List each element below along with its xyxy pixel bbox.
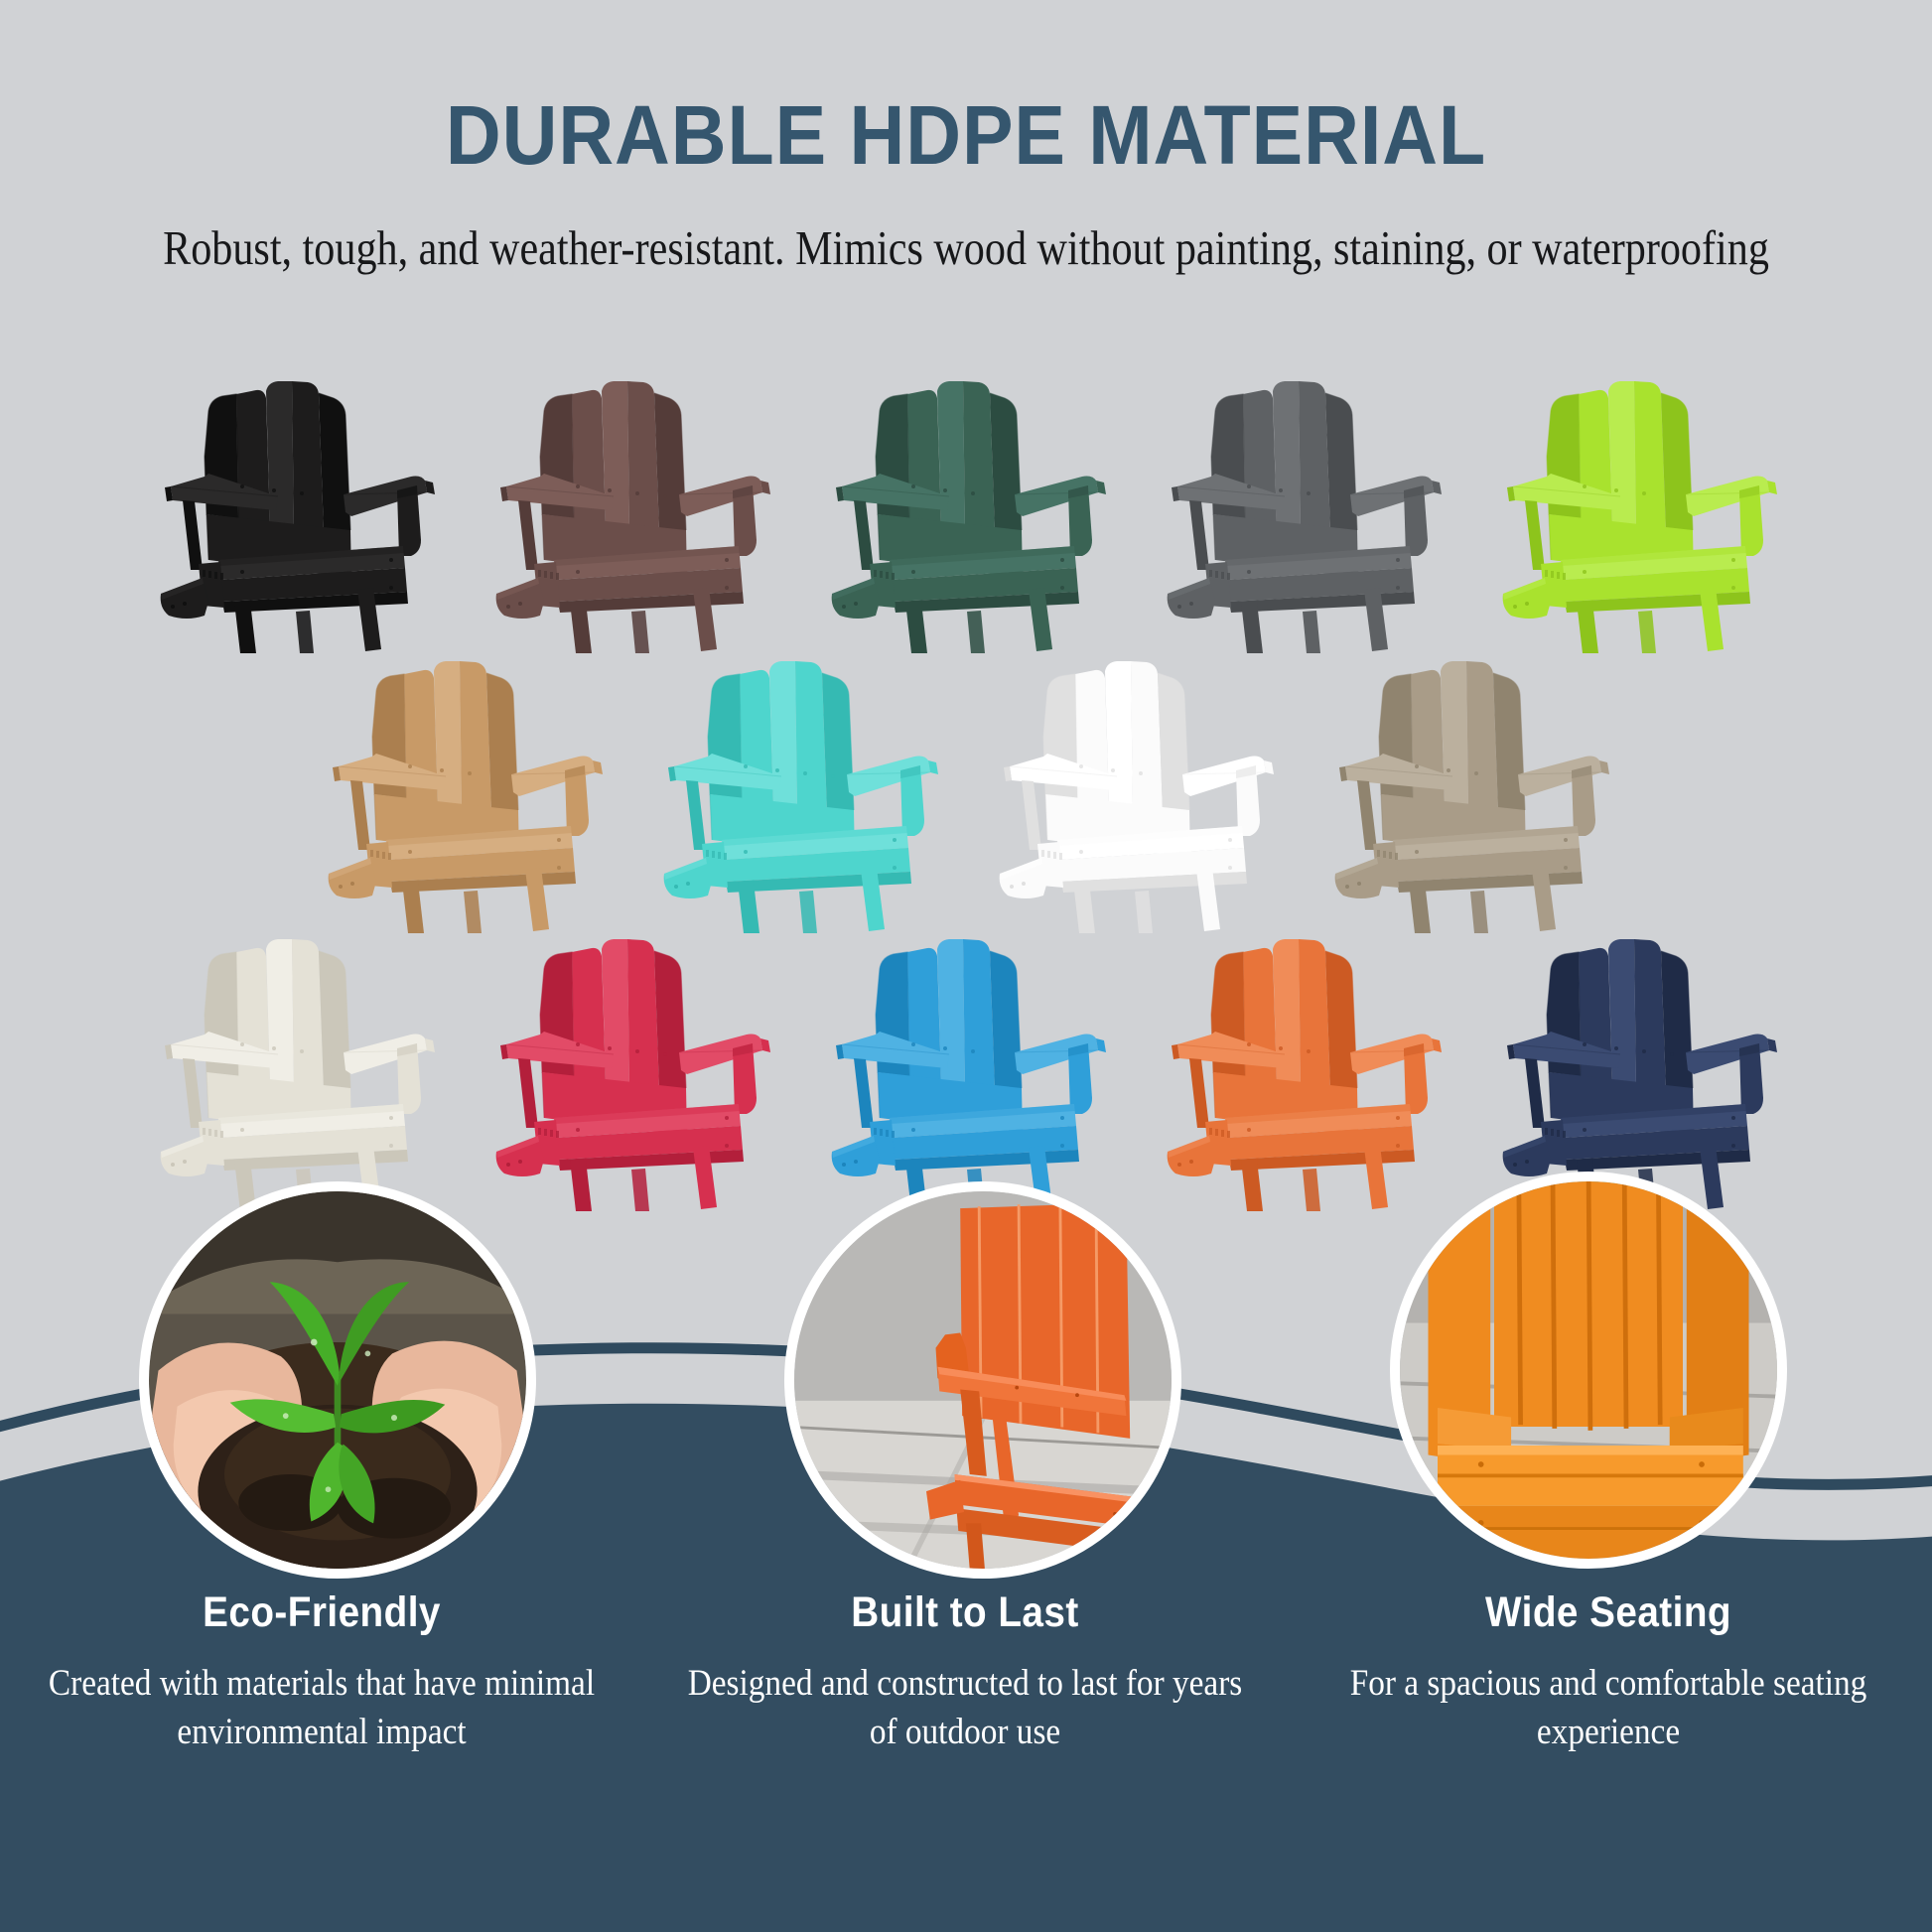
chair-icon	[650, 645, 946, 933]
chair-swatch-ivory[interactable]	[147, 923, 443, 1211]
chair-icon	[818, 923, 1114, 1211]
chair-icon	[1489, 923, 1785, 1211]
chair-icon	[483, 365, 778, 653]
chair-swatch-gray[interactable]	[1154, 365, 1449, 653]
chair-icon	[315, 645, 611, 933]
feature-photos	[0, 1181, 1932, 1598]
feature-list: Eco-Friendly Created with materials that…	[0, 1588, 1932, 1756]
feature-eco-friendly: Eco-Friendly Created with materials that…	[0, 1588, 643, 1756]
chair-swatch-black[interactable]	[147, 365, 443, 653]
page-subtitle: Robust, tough, and weather-resistant. Mi…	[135, 184, 1797, 279]
wide-seat-closeup	[1429, 1181, 1749, 1559]
photo-wide-seating	[1390, 1172, 1787, 1569]
feature-wide-seating: Wide Seating For a spacious and comforta…	[1287, 1588, 1930, 1756]
feature-description: For a spacious and comfortable seating e…	[1318, 1637, 1897, 1756]
chair-icon	[147, 365, 443, 653]
feature-title: Built to Last	[675, 1588, 1254, 1637]
chair-swatch-navy-blue[interactable]	[1489, 923, 1785, 1211]
header: DURABLE HDPE MATERIAL Robust, tough, and…	[0, 0, 1932, 279]
chair-icon	[1321, 645, 1617, 933]
chair-swatch-brown[interactable]	[483, 365, 778, 653]
page-title: DURABLE HDPE MATERIAL	[77, 0, 1855, 184]
footer: Eco-Friendly Created with materials that…	[0, 1588, 1932, 1932]
chair-icon	[818, 365, 1114, 653]
chair-swatch-blue[interactable]	[818, 923, 1114, 1211]
photo-eco-friendly	[139, 1181, 536, 1579]
chair-icon	[986, 645, 1282, 933]
photo-eco-inner	[149, 1191, 526, 1569]
photo-built-to-last	[784, 1181, 1181, 1579]
chair-swatch-lime-green[interactable]	[1489, 365, 1785, 653]
chair-swatch-red[interactable]	[483, 923, 778, 1211]
feature-description: Designed and constructed to last for yea…	[675, 1637, 1254, 1756]
feature-built-to-last: Built to Last Designed and constructed t…	[643, 1588, 1287, 1756]
chair-icon	[1154, 923, 1449, 1211]
chair-icon	[1154, 365, 1449, 653]
chair-row-3	[0, 923, 1932, 1211]
feature-title: Wide Seating	[1318, 1588, 1897, 1637]
chair-swatch-orange[interactable]	[1154, 923, 1449, 1211]
chair-icon	[147, 923, 443, 1211]
chair-swatch-weathered-wood[interactable]	[1321, 645, 1617, 933]
infographic-root: DURABLE HDPE MATERIAL Robust, tough, and…	[0, 0, 1932, 1932]
chair-swatch-turquoise[interactable]	[650, 645, 946, 933]
photo-built-inner	[794, 1191, 1172, 1569]
chair-icon	[1489, 365, 1785, 653]
chair-icon	[483, 923, 778, 1211]
chair-row-2	[0, 645, 1932, 933]
photo-wide-inner	[1400, 1181, 1777, 1559]
chair-swatch-teak[interactable]	[315, 645, 611, 933]
chair-row-1	[0, 365, 1932, 653]
feature-title: Eco-Friendly	[32, 1588, 611, 1637]
chair-swatch-dark-green[interactable]	[818, 365, 1114, 653]
chair-color-grid	[0, 365, 1932, 1211]
feature-description: Created with materials that have minimal…	[32, 1637, 611, 1756]
chair-swatch-white[interactable]	[986, 645, 1282, 933]
